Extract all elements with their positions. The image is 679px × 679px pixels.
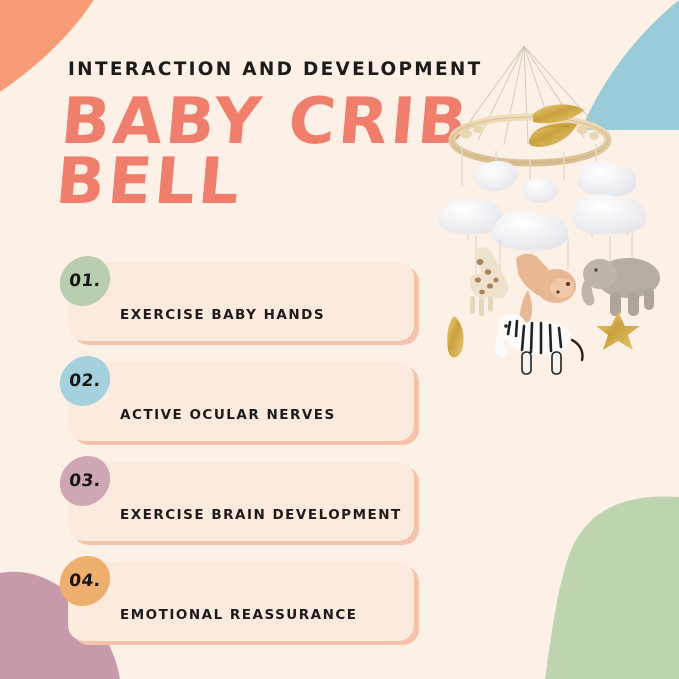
feature-item-4[interactable]: EMOTIONAL REASSURANCE 04. (0, 556, 679, 656)
feature-label-3: EXERCISE BRAIN DEVELOPMENT (120, 507, 402, 523)
feature-label-2: ACTIVE OCULAR NERVES (120, 407, 336, 423)
feature-card-1[interactable]: EXERCISE BABY HANDS (68, 262, 414, 341)
feature-item-2[interactable]: ACTIVE OCULAR NERVES 02. (0, 356, 679, 456)
feature-card-4[interactable]: EMOTIONAL REASSURANCE (68, 562, 414, 641)
feature-label-4: EMOTIONAL REASSURANCE (120, 607, 358, 623)
feature-card-3[interactable]: EXERCISE BRAIN DEVELOPMENT (68, 462, 414, 541)
page-title: BABY CRIB BELL (53, 92, 484, 212)
page-title-line-1: BABY CRIB (59, 92, 484, 152)
feature-label-1: EXERCISE BABY HANDS (120, 307, 325, 323)
eyebrow-text: INTERACTION AND DEVELOPMENT (68, 58, 483, 80)
feature-item-3[interactable]: EXERCISE BRAIN DEVELOPMENT 03. (0, 456, 679, 556)
feature-list: EXERCISE BABY HANDS 01. ACTIVE OCULAR NE… (0, 256, 679, 656)
feature-item-1[interactable]: EXERCISE BABY HANDS 01. (0, 256, 679, 356)
feature-card-2[interactable]: ACTIVE OCULAR NERVES (68, 362, 414, 441)
page-title-line-2: BELL (53, 152, 478, 212)
poster-canvas: INTERACTION AND DEVELOPMENT BABY CRIB BE… (0, 0, 679, 679)
